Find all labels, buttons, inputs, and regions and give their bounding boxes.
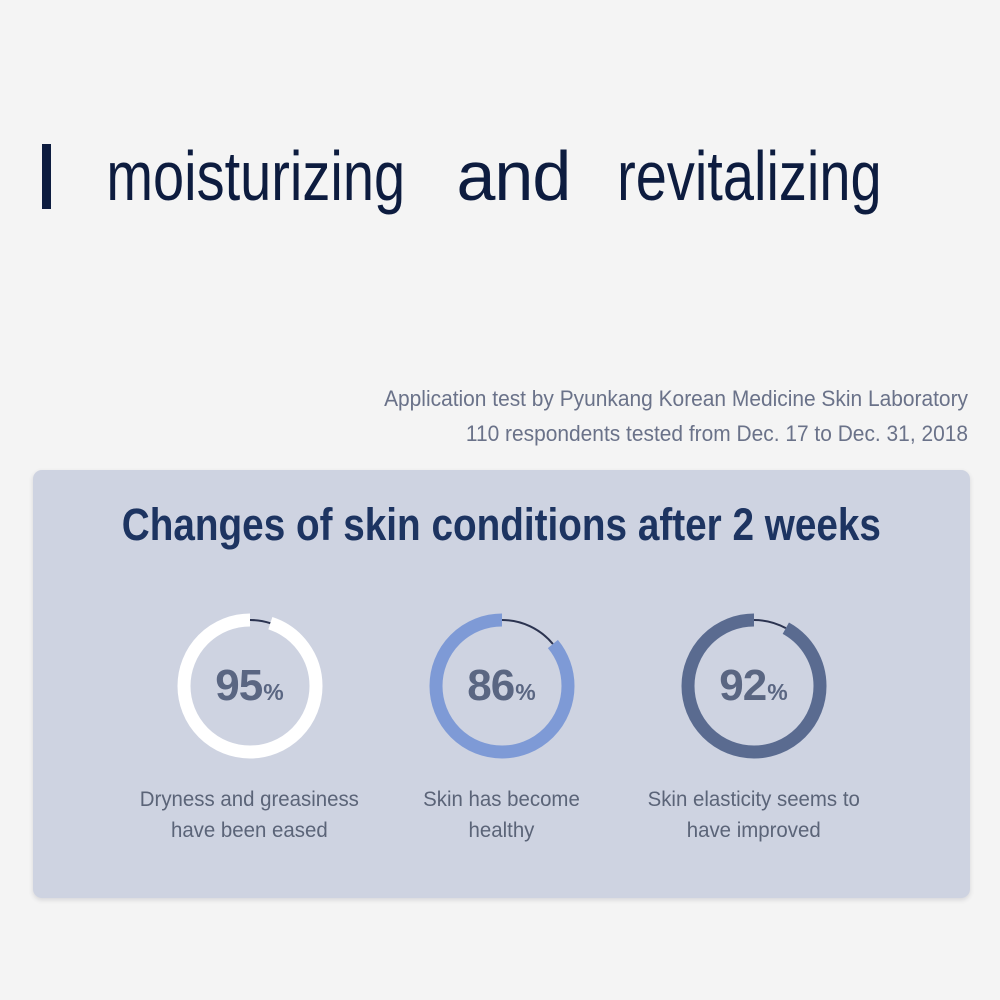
donut-percent-sign-92: % xyxy=(767,679,787,705)
card-title-text: Changes of skin conditions after 2 weeks xyxy=(122,502,881,547)
headline-word-moisturizing: moisturizing xyxy=(106,141,405,211)
donut-number-86: 86 xyxy=(467,661,514,710)
stat-caption-elasticity-line-2: have improved xyxy=(647,815,859,846)
headline-word-revitalizing: revitalizing xyxy=(617,141,882,211)
study-credit: Application test by Pyunkang Korean Medi… xyxy=(288,382,968,452)
stat-caption-healthy: Skin has become healthy xyxy=(419,784,584,845)
donut-percent-sign-86: % xyxy=(515,679,535,705)
headline-accent-bar xyxy=(42,144,51,209)
donut-number-95: 95 xyxy=(215,661,262,710)
donut-chart-95: 95% xyxy=(174,610,326,762)
stat-caption-dryness-line-1: Dryness and greasiness xyxy=(140,784,359,815)
stat-item-dryness: 95% Dryness and greasiness have been eas… xyxy=(124,610,376,845)
stat-caption-elasticity-line-1: Skin elasticity seems to xyxy=(647,784,859,815)
stat-item-elasticity: 92% Skin elasticity seems to have improv… xyxy=(628,610,880,845)
page-headline: moisturizing and revitalizing xyxy=(42,130,915,222)
donut-percent-sign-95: % xyxy=(263,679,283,705)
results-card: Changes of skin conditions after 2 weeks… xyxy=(33,470,970,898)
stat-caption-healthy-line-2: healthy xyxy=(423,815,580,846)
donut-value-86: 86% xyxy=(426,664,578,708)
headline-text: moisturizing and revitalizing xyxy=(69,141,915,211)
study-credit-line-2: 110 respondents tested from Dec. 17 to D… xyxy=(336,417,968,452)
stat-item-healthy: 86% Skin has become healthy xyxy=(376,610,628,845)
stat-caption-healthy-line-1: Skin has become xyxy=(423,784,580,815)
donut-number-92: 92 xyxy=(719,661,766,710)
donut-value-92: 92% xyxy=(678,664,830,708)
promo-page: moisturizing and revitalizing Applicatio… xyxy=(0,0,1000,1000)
donut-chart-86: 86% xyxy=(426,610,578,762)
stat-caption-dryness: Dryness and greasiness have been eased xyxy=(134,784,365,845)
stats-row: 95% Dryness and greasiness have been eas… xyxy=(33,610,970,845)
stat-caption-elasticity: Skin elasticity seems to have improved xyxy=(642,784,865,845)
headline-word-and: and xyxy=(456,141,570,211)
donut-chart-92: 92% xyxy=(678,610,830,762)
study-credit-line-1: Application test by Pyunkang Korean Medi… xyxy=(336,382,968,417)
stat-caption-dryness-line-2: have been eased xyxy=(140,815,359,846)
donut-value-95: 95% xyxy=(174,664,326,708)
card-title: Changes of skin conditions after 2 weeks xyxy=(33,502,970,547)
